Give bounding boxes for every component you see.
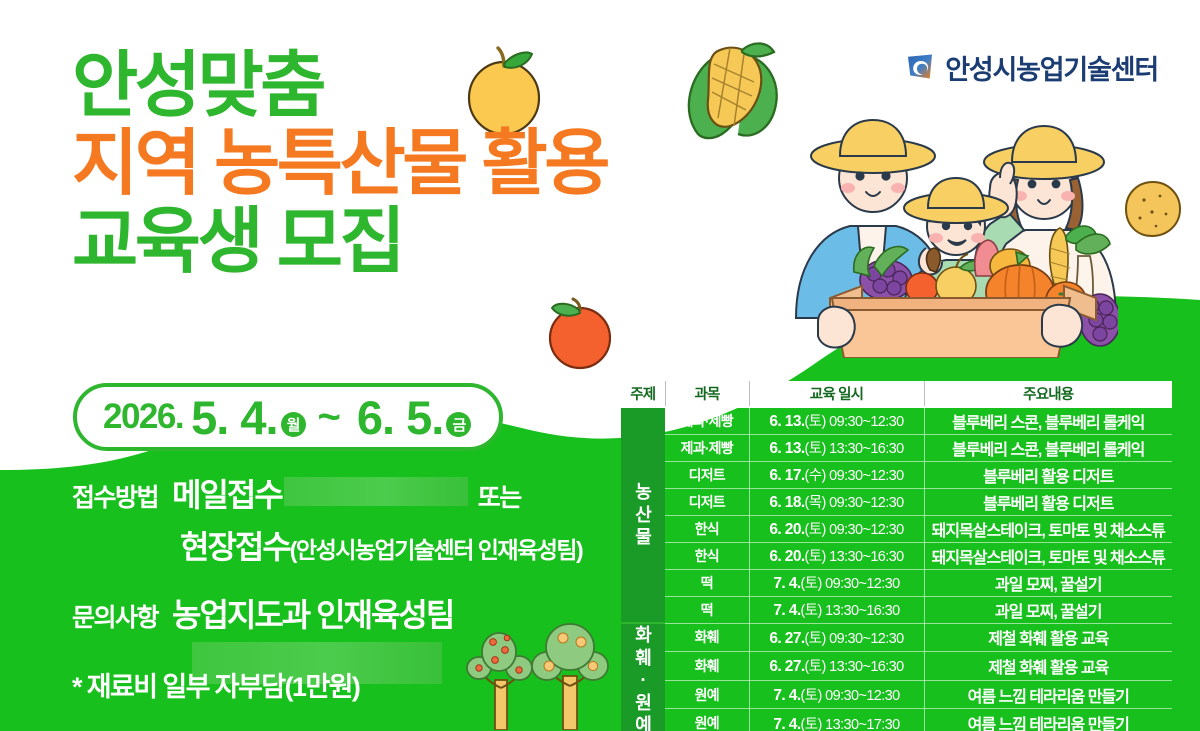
page-title: 안성맞춤 지역 농특산물 활용 교육생 모집 [72, 48, 607, 281]
cell-content: 여름 느낌 테라리움 만들기 [924, 680, 1172, 709]
cell-content: 블루베리 활용 디저트 [924, 488, 1172, 515]
apply-method-label: 접수방법 [72, 478, 158, 514]
cell-subject: 화훼 [665, 623, 749, 652]
cell-content: 제철 화훼 활용 교육 [924, 623, 1172, 652]
cell-datetime: 6. 27.(토) 09:30~12:30 [749, 623, 924, 652]
redacted-email-address [284, 477, 468, 506]
cell-datetime: 6. 27.(토) 13:30~16:30 [749, 652, 924, 681]
cell-content: 여름 느낌 테라리움 만들기 [924, 709, 1172, 731]
apply-or-label: 또는 [478, 478, 521, 514]
contact-row: 문의사항 농업지도과 인재육성팀 [72, 590, 582, 636]
cell-subject: 한식 [665, 542, 749, 569]
period-tilde: ~ [318, 395, 341, 440]
cell-subject: 떡 [665, 596, 749, 623]
table-row: 제과·제빵6. 13.(토) 13:30~16:30블루베리 스콘, 블루베리 … [621, 434, 1172, 461]
title-line-3: 교육생 모집 [72, 204, 607, 282]
cell-datetime: 6. 20.(토) 09:30~12:30 [749, 515, 924, 542]
cell-subject: 디저트 [665, 488, 749, 515]
header-content: 주요내용 [924, 381, 1172, 407]
cell-content: 돼지목살스테이크, 토마토 및 채소스튜 [924, 542, 1172, 569]
apply-onsite-label: 현장접수 [180, 522, 290, 568]
cell-datetime: 7. 4.(토) 13:30~17:30 [749, 709, 924, 731]
table-row: 원예7. 4.(토) 09:30~12:30여름 느낌 테라리움 만들기 [621, 680, 1172, 709]
cell-datetime: 6. 20.(토) 13:30~16:30 [749, 542, 924, 569]
table-row: 한식6. 20.(토) 13:30~16:30돼지목살스테이크, 토마토 및 채… [621, 542, 1172, 569]
organization-logo: 안성시농업기술센터 [905, 48, 1158, 87]
cell-subject: 제과·제빵 [665, 434, 749, 461]
header-datetime: 교육 일시 [749, 381, 924, 407]
period-end-dow-badge: 금 [446, 412, 471, 437]
cell-subject: 디저트 [665, 461, 749, 488]
anseong-swirl-emblem-icon [905, 53, 935, 83]
cell-datetime: 6. 17.(수) 09:30~12:30 [749, 461, 924, 488]
apply-onsite-note: (안성시농업기술센터 인재육성팀) [290, 531, 582, 565]
table-row: 화훼6. 27.(토) 13:30~16:30제철 화훼 활용 교육 [621, 652, 1172, 681]
header-subject: 과목 [665, 381, 749, 407]
apply-method-row: 접수방법 메일접수 또는 [72, 470, 582, 516]
period-end-date: 6. 5. [357, 390, 443, 445]
table-row: 원예7. 4.(토) 13:30~17:30여름 느낌 테라리움 만들기 [621, 709, 1172, 731]
period-year: 2026. [103, 397, 183, 437]
table-row: 화훼·원예화훼6. 27.(토) 09:30~12:30제철 화훼 활용 교육 [621, 623, 1172, 652]
cell-theme: 농산물 [621, 407, 665, 623]
cell-datetime: 6. 13.(토) 09:30~12:30 [749, 407, 924, 434]
table-row: 농산물제과·제빵6. 13.(토) 09:30~12:30블루베리 스콘, 블루… [621, 407, 1172, 434]
cell-datetime: 7. 4.(토) 09:30~12:30 [749, 569, 924, 596]
cell-content: 블루베리 활용 디저트 [924, 461, 1172, 488]
orange-tomato-icon [538, 292, 618, 374]
header-theme: 주제 [621, 381, 665, 407]
period-start-date: 5. 4. [191, 390, 277, 445]
schedule-table-wrapper: 주제 과목 교육 일시 주요내용 농산물제과·제빵6. 13.(토) 09:30… [621, 381, 1172, 731]
table-row: 떡7. 4.(토) 09:30~12:30과일 모찌, 꿀설기 [621, 569, 1172, 596]
cell-subject: 화훼 [665, 652, 749, 681]
title-line-1: 안성맞춤 [72, 48, 607, 126]
cell-content: 블루베리 스콘, 블루베리 롤케익 [924, 407, 1172, 434]
recruitment-period-badge: 2026. 5. 4. 월 ~ 6. 5. 금 [73, 383, 503, 451]
cell-datetime: 6. 18.(목) 09:30~12:30 [749, 488, 924, 515]
application-info: 접수방법 메일접수 또는 현장접수 (안성시농업기술센터 인재육성팀) 문의사항… [72, 470, 582, 690]
table-row: 디저트6. 18.(목) 09:30~12:30블루베리 활용 디저트 [621, 488, 1172, 515]
table-header-row: 주제 과목 교육 일시 주요내용 [621, 381, 1172, 407]
cell-content: 제철 화훼 활용 교육 [924, 652, 1172, 681]
period-start-dow-badge: 월 [281, 412, 306, 437]
farming-family-illustration [778, 108, 1118, 358]
cell-content: 돼지목살스테이크, 토마토 및 채소스튜 [924, 515, 1172, 542]
cell-theme: 화훼·원예 [621, 623, 665, 731]
cell-content: 과일 모찌, 꿀설기 [924, 596, 1172, 623]
apply-onsite-row: 현장접수 (안성시농업기술센터 인재육성팀) [180, 522, 582, 568]
contact-team: 농업지도과 인재육성팀 [172, 590, 453, 636]
table-row: 떡7. 4.(토) 13:30~16:30과일 모찌, 꿀설기 [621, 596, 1172, 623]
cell-subject: 떡 [665, 569, 749, 596]
cell-content: 과일 모찌, 꿀설기 [924, 569, 1172, 596]
table-row: 디저트6. 17.(수) 09:30~12:30블루베리 활용 디저트 [621, 461, 1172, 488]
logo-text: 안성시농업기술센터 [945, 48, 1158, 87]
cell-subject: 한식 [665, 515, 749, 542]
cell-content: 블루베리 스콘, 블루베리 롤케익 [924, 434, 1172, 461]
table-row: 한식6. 20.(토) 09:30~12:30돼지목살스테이크, 토마토 및 채… [621, 515, 1172, 542]
cell-datetime: 7. 4.(토) 09:30~12:30 [749, 680, 924, 709]
schedule-table: 주제 과목 교육 일시 주요내용 농산물제과·제빵6. 13.(토) 09:30… [621, 381, 1172, 731]
title-line-2: 지역 농특산물 활용 [72, 126, 607, 204]
cell-datetime: 7. 4.(토) 13:30~16:30 [749, 596, 924, 623]
apply-email-label: 메일접수 [172, 470, 282, 516]
contact-label: 문의사항 [72, 598, 158, 634]
schedule-table-body: 농산물제과·제빵6. 13.(토) 09:30~12:30블루베리 스콘, 블루… [621, 407, 1172, 731]
cell-datetime: 6. 13.(토) 13:30~16:30 [749, 434, 924, 461]
potato-icon [1122, 178, 1184, 240]
cell-subject: 제과·제빵 [665, 407, 749, 434]
fee-footnote: * 재료비 일부 자부담(1만원) [72, 665, 359, 704]
cell-subject: 원예 [665, 680, 749, 709]
poster-root: 안성시농업기술센터 안성맞춤 지역 농특산물 활용 교육생 모집 2026. 5… [0, 0, 1200, 731]
cell-subject: 원예 [665, 709, 749, 731]
